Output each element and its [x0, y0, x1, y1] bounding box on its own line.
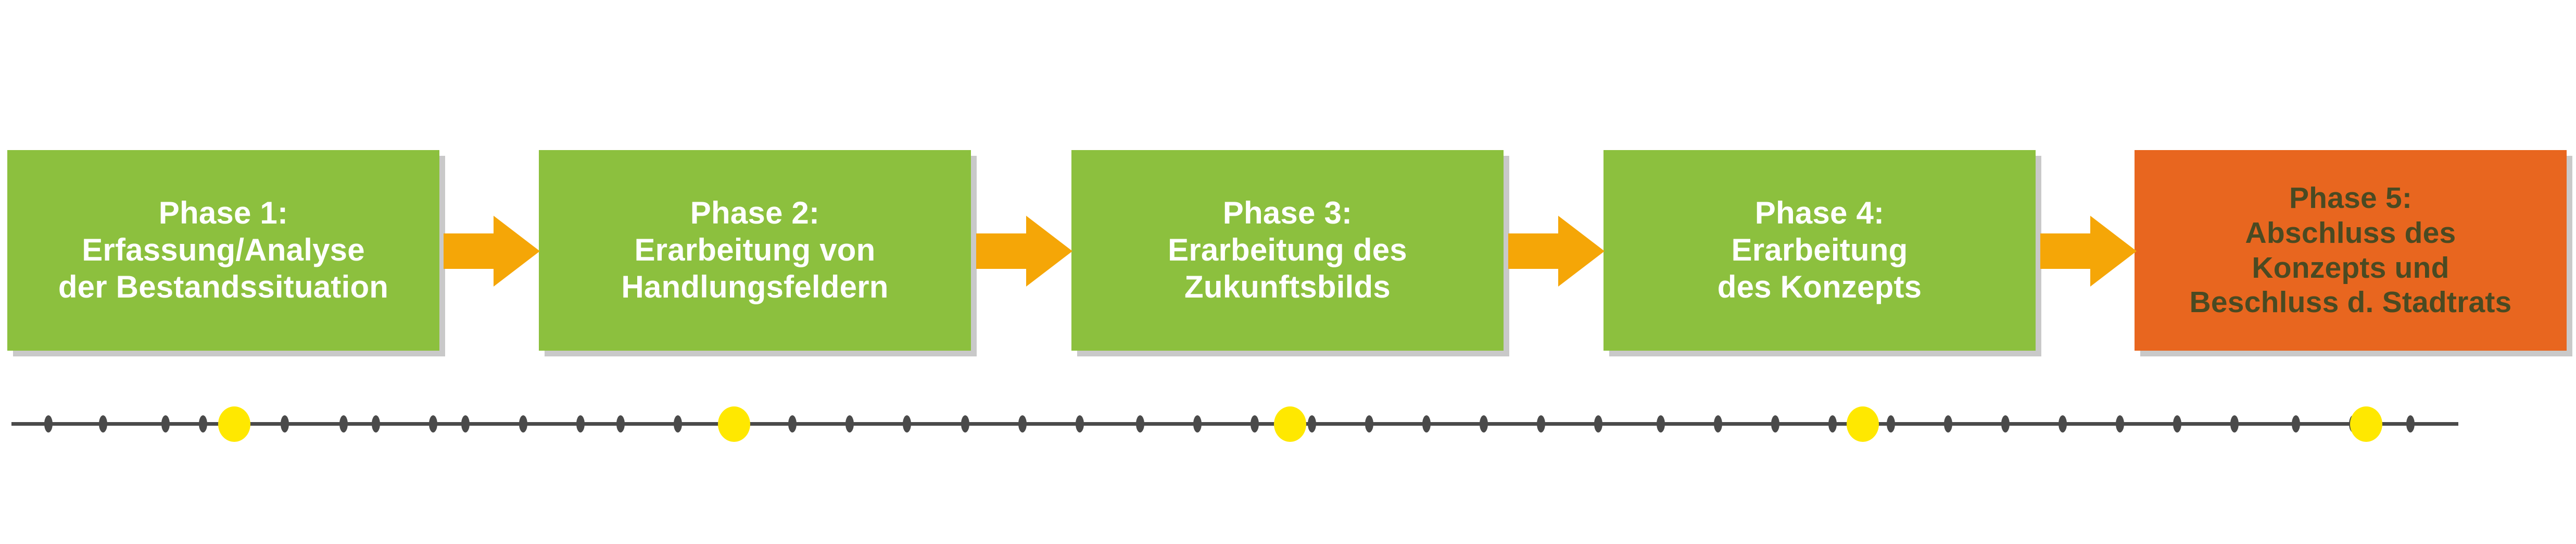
timeline-tick-dot: [2116, 415, 2124, 432]
timeline-milestone-marker[interactable]: [718, 406, 750, 442]
timeline-tick-dot: [788, 415, 797, 432]
timeline-tick-dot: [1193, 415, 1202, 432]
phase-box-5[interactable]: Phase 5: Abschluss des Konzepts und Besc…: [2135, 150, 2567, 351]
timeline-milestone-marker[interactable]: [2350, 406, 2382, 442]
timeline-tick-dot: [1308, 415, 1316, 432]
phase-row: Phase 1: Erfassung/Analyse der Bestandss…: [0, 150, 2576, 358]
phase-4-label: Phase 4: Erarbeitung des Konzepts: [1712, 195, 1927, 305]
timeline-tick-dot: [1018, 415, 1027, 432]
timeline-tick-dot: [2406, 415, 2415, 432]
phase-box-1[interactable]: Phase 1: Erfassung/Analyse der Bestandss…: [7, 150, 439, 351]
timeline-tick-dot: [1944, 415, 1952, 432]
timeline-tick-dot: [1594, 415, 1602, 432]
phase-box-3[interactable]: Phase 3: Erarbeitung des Zukunftsbilds: [1071, 150, 1504, 351]
arrow-right-icon-3: [1508, 204, 1605, 298]
timeline-tick-dot: [2230, 415, 2239, 432]
timeline-tick-dot: [2173, 415, 2181, 432]
timeline-tick-dot: [1136, 415, 1144, 432]
timeline-tick-dot: [1422, 415, 1431, 432]
timeline-tick-dot: [1076, 415, 1084, 432]
timeline-milestone-marker[interactable]: [218, 406, 250, 442]
phase-box-2[interactable]: Phase 2: Erarbeitung von Handlungsfelder…: [539, 150, 971, 351]
timeline-tick-dot: [519, 415, 527, 432]
timeline-tick-dot: [1887, 415, 1895, 432]
phase-1-label: Phase 1: Erfassung/Analyse der Bestandss…: [53, 195, 394, 305]
timeline-tick-dot: [2292, 415, 2300, 432]
timeline-tick-dot: [372, 415, 380, 432]
timeline: [0, 386, 2576, 469]
phase-2-label: Phase 2: Erarbeitung von Handlungsfelder…: [616, 195, 893, 305]
timeline-tick-dot: [99, 415, 107, 432]
timeline-tick-dot: [845, 415, 854, 432]
timeline-tick-dot: [2001, 415, 2010, 432]
timeline-tick-dot: [2059, 415, 2067, 432]
timeline-tick-dot: [1771, 415, 1779, 432]
timeline-tick-dot: [1365, 415, 1373, 432]
timeline-tick-dot: [961, 415, 969, 432]
timeline-tick-dot: [1828, 415, 1837, 432]
process-phase-diagram: Phase 1: Erfassung/Analyse der Bestandss…: [0, 0, 2576, 544]
timeline-tick-dot: [1714, 415, 1722, 432]
arrow-right-icon-1: [444, 204, 540, 298]
timeline-tick-dot: [461, 415, 470, 432]
timeline-tick-dot: [44, 415, 53, 432]
arrow-right-icon-2: [976, 204, 1072, 298]
phase-box-4[interactable]: Phase 4: Erarbeitung des Konzepts: [1603, 150, 2036, 351]
timeline-tick-dot: [674, 415, 682, 432]
timeline-milestone-marker[interactable]: [1847, 406, 1879, 442]
arrow-right-icon-4: [2040, 204, 2137, 298]
timeline-tick-dot: [281, 415, 289, 432]
timeline-tick-dot: [903, 415, 911, 432]
timeline-tick-dot: [339, 415, 348, 432]
timeline-tick-dot: [616, 415, 625, 432]
phase-5-label: Phase 5: Abschluss des Konzepts und Besc…: [2184, 181, 2517, 320]
timeline-tick-dot: [1480, 415, 1488, 432]
timeline-tick-dot: [1537, 415, 1545, 432]
timeline-tick-dot: [161, 415, 170, 432]
phase-3-label: Phase 3: Erarbeitung des Zukunftsbilds: [1163, 195, 1412, 305]
timeline-tick-dot: [429, 415, 437, 432]
timeline-tick-dot: [1657, 415, 1665, 432]
timeline-milestone-marker[interactable]: [1274, 406, 1306, 442]
timeline-tick-dot: [1251, 415, 1259, 432]
timeline-tick-dot: [199, 415, 207, 432]
timeline-tick-dot: [576, 415, 585, 432]
